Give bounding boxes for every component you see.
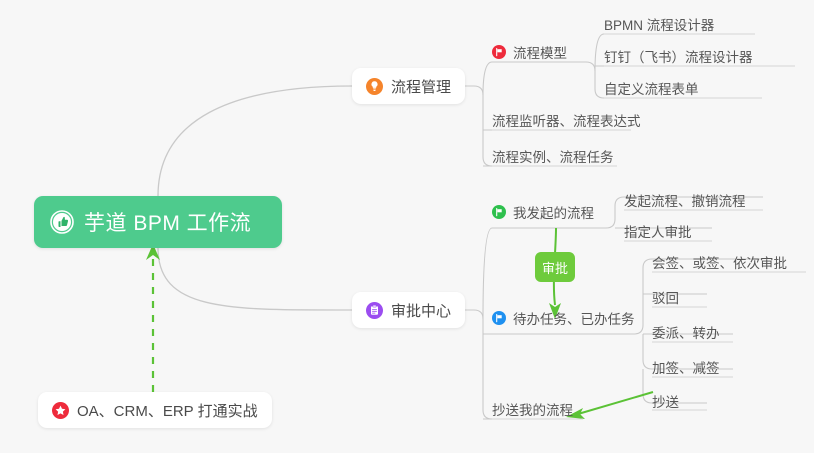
node-assignee-approval[interactable]: 指定人审批 — [624, 219, 692, 243]
node-cc[interactable]: 抄送 — [652, 389, 679, 413]
node-process-instance-label: 流程实例、流程任务 — [492, 146, 614, 166]
thumbs-up-icon — [50, 210, 74, 234]
node-process-instance[interactable]: 流程实例、流程任务 — [492, 144, 614, 168]
flag-icon — [492, 45, 506, 59]
annotation-approve-tag-label: 审批 — [542, 258, 568, 277]
node-dingtalk-designer-label: 钉钉（飞书）流程设计器 — [604, 46, 753, 66]
node-dingtalk-designer[interactable]: 钉钉（飞书）流程设计器 — [604, 44, 753, 68]
node-process-listener-label: 流程监听器、流程表达式 — [492, 110, 641, 130]
node-add-remove-sign[interactable]: 加签、减签 — [652, 355, 720, 379]
branch-process-management-label: 流程管理 — [391, 76, 451, 97]
node-start-cancel-process[interactable]: 发起流程、撤销流程 — [624, 188, 746, 212]
node-todo-tasks-label: 待办任务、已办任务 — [513, 308, 635, 328]
branch-approval-center-label: 审批中心 — [391, 300, 451, 321]
node-todo-tasks[interactable]: 待办任务、已办任务 — [492, 306, 635, 330]
root-node-label: 芋道 BPM 工作流 — [84, 207, 251, 237]
floating-node-integration[interactable]: OA、CRM、ERP 打通实战 — [38, 392, 272, 428]
node-countersign[interactable]: 会签、或签、依次审批 — [652, 250, 787, 274]
node-countersign-label: 会签、或签、依次审批 — [652, 252, 787, 272]
node-reject-label: 驳回 — [652, 287, 679, 307]
edge-root-to-process-management — [158, 86, 352, 196]
node-cc-label: 抄送 — [652, 391, 679, 411]
node-assignee-approval-label: 指定人审批 — [624, 221, 692, 241]
branch-approval-center[interactable]: 审批中心 — [352, 292, 465, 328]
lightbulb-icon — [366, 78, 383, 95]
node-custom-form[interactable]: 自定义流程表单 — [604, 76, 699, 100]
edge-process-management-trunk — [462, 86, 492, 166]
star-icon — [52, 402, 69, 419]
node-delegate-transfer-label: 委派、转办 — [652, 322, 720, 342]
arrow-cc-to-cc-my-processes — [578, 392, 653, 414]
node-add-remove-sign-label: 加签、减签 — [652, 357, 720, 377]
node-cc-my-processes-label: 抄送我的流程 — [492, 399, 573, 419]
node-bpmn-designer-label: BPMN 流程设计器 — [604, 14, 714, 34]
mindmap-canvas: 芋道 BPM 工作流 流程管理 流程模型 流程监听器、流程表达式 流程实例、流 — [0, 0, 814, 453]
node-start-cancel-process-label: 发起流程、撤销流程 — [624, 190, 746, 210]
flag-icon — [492, 205, 506, 219]
edge-approval-center-trunk — [462, 310, 492, 419]
node-cc-my-processes[interactable]: 抄送我的流程 — [492, 397, 573, 421]
node-custom-form-label: 自定义流程表单 — [604, 78, 699, 98]
node-bpmn-designer[interactable]: BPMN 流程设计器 — [604, 12, 714, 36]
edge-root-to-approval-center — [158, 248, 352, 310]
root-node[interactable]: 芋道 BPM 工作流 — [34, 196, 282, 248]
node-my-processes[interactable]: 我发起的流程 — [492, 200, 594, 224]
branch-process-management[interactable]: 流程管理 — [352, 68, 465, 104]
clipboard-icon — [366, 302, 383, 319]
node-my-processes-label: 我发起的流程 — [513, 202, 594, 222]
node-process-model[interactable]: 流程模型 — [492, 40, 567, 64]
floating-node-integration-label: OA、CRM、ERP 打通实战 — [77, 400, 258, 421]
flag-icon — [492, 311, 506, 325]
node-process-model-label: 流程模型 — [513, 42, 567, 62]
node-process-listener[interactable]: 流程监听器、流程表达式 — [492, 108, 641, 132]
edge-process-management-branch-top — [483, 62, 583, 95]
annotation-approve-tag: 审批 — [535, 252, 575, 282]
node-delegate-transfer[interactable]: 委派、转办 — [652, 320, 720, 344]
node-reject[interactable]: 驳回 — [652, 285, 679, 309]
